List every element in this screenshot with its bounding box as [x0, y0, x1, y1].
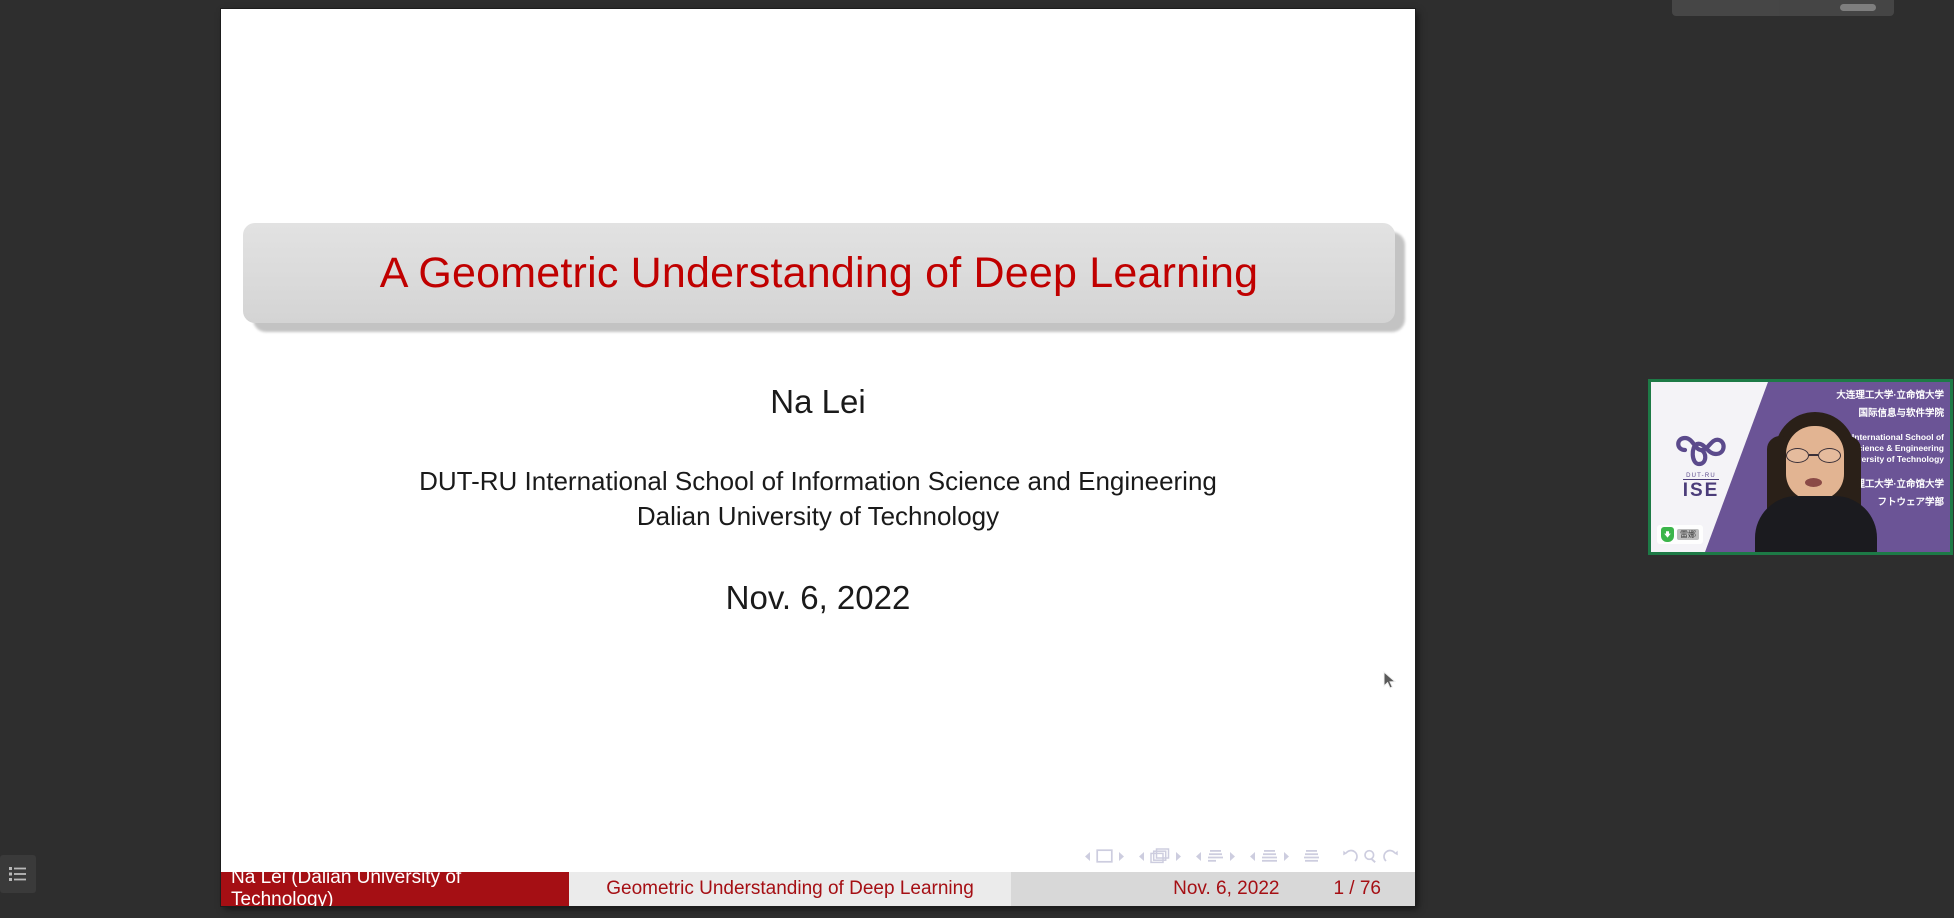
outline-list-icon [8, 865, 28, 883]
speaker-body [1755, 496, 1877, 552]
footer-page-number: 1 / 76 [1333, 878, 1381, 900]
webcam-text-cn1: 大连理工大学·立命馆大学 [1772, 391, 1944, 401]
speaker-figure [1755, 402, 1877, 552]
glasses-lens-right [1818, 448, 1841, 463]
slide-square-icon[interactable] [1096, 849, 1113, 863]
speaker-face [1786, 426, 1844, 500]
slide-affiliation: DUT-RU International School of Informati… [221, 464, 1415, 533]
glasses-bridge [1809, 454, 1818, 456]
footer-author: Na Lei (Dalian University of Technology) [221, 872, 569, 906]
back-icon[interactable] [1342, 849, 1358, 864]
section-next-icon[interactable] [1283, 851, 1290, 862]
footer-title: Geometric Understanding of Deep Learning [569, 872, 1011, 906]
nav-group-document[interactable] [1303, 849, 1320, 864]
webcam-tile[interactable]: DUT-RU ISE 大连理工大学·立命馆大学 国际信息与软件学院 Intern… [1648, 379, 1953, 555]
frame-prev-icon[interactable] [1138, 851, 1145, 862]
pdf-slide-page[interactable]: A Geometric Understanding of Deep Learni… [221, 9, 1415, 906]
slide-content: A Geometric Understanding of Deep Learni… [221, 9, 1415, 906]
affiliation-line-1: DUT-RU International School of Informati… [221, 464, 1415, 499]
frame-stack-icon[interactable] [1150, 848, 1170, 864]
participant-name: 雷娜 [1677, 529, 1699, 540]
title-box: A Geometric Understanding of Deep Learni… [243, 223, 1395, 323]
forward-icon[interactable] [1383, 849, 1399, 864]
nav-group-section[interactable] [1249, 849, 1290, 864]
slide-next-icon[interactable] [1118, 851, 1125, 862]
subsection-prev-icon[interactable] [1195, 851, 1202, 862]
slide-author: Na Lei [221, 383, 1415, 421]
mouse-cursor [1383, 671, 1397, 695]
section-lines-icon[interactable] [1261, 849, 1278, 864]
document-lines-icon[interactable] [1303, 849, 1320, 864]
find-icon[interactable] [1363, 849, 1378, 864]
participant-name-badge: 雷娜 [1657, 525, 1703, 544]
section-prev-icon[interactable] [1249, 851, 1256, 862]
screen-root: A Geometric Understanding of Deep Learni… [0, 0, 1954, 918]
frame-next-icon[interactable] [1175, 851, 1182, 862]
footer-date: Nov. 6, 2022 [1173, 878, 1279, 900]
ise-logo: DUT-RU ISE [1665, 430, 1737, 501]
speaker-glasses [1785, 448, 1845, 463]
footer-right: Nov. 6, 2022 1 / 76 [1011, 872, 1415, 906]
subsection-lines-icon[interactable] [1207, 849, 1224, 864]
slide-title: A Geometric Understanding of Deep Learni… [380, 249, 1258, 298]
glasses-lens-left [1786, 448, 1809, 463]
nav-group-slide[interactable] [1084, 849, 1125, 863]
slide-date: Nov. 6, 2022 [221, 579, 1415, 617]
speaker-mouth [1805, 478, 1822, 487]
nav-group-frame[interactable] [1138, 848, 1182, 864]
slide-footer: Na Lei (Dalian University of Technology)… [221, 872, 1415, 906]
nav-group-subsection[interactable] [1195, 849, 1236, 864]
slide-title-block: A Geometric Understanding of Deep Learni… [243, 223, 1395, 326]
slide-prev-icon[interactable] [1084, 851, 1091, 862]
green-shield-icon [1661, 527, 1674, 542]
outline-toggle-button[interactable] [0, 855, 36, 893]
ise-logo-mark [1671, 430, 1731, 472]
window-bar-stub [1672, 0, 1894, 16]
subsection-next-icon[interactable] [1229, 851, 1236, 862]
nav-group-history[interactable] [1342, 849, 1399, 864]
affiliation-line-2: Dalian University of Technology [221, 499, 1415, 534]
beamer-navigation-bar[interactable] [1084, 848, 1399, 864]
window-bar-pill [1840, 4, 1876, 11]
ise-logo-text: ISE [1683, 479, 1720, 500]
webcam-video: DUT-RU ISE 大连理工大学·立命馆大学 国际信息与软件学院 Intern… [1651, 382, 1950, 552]
